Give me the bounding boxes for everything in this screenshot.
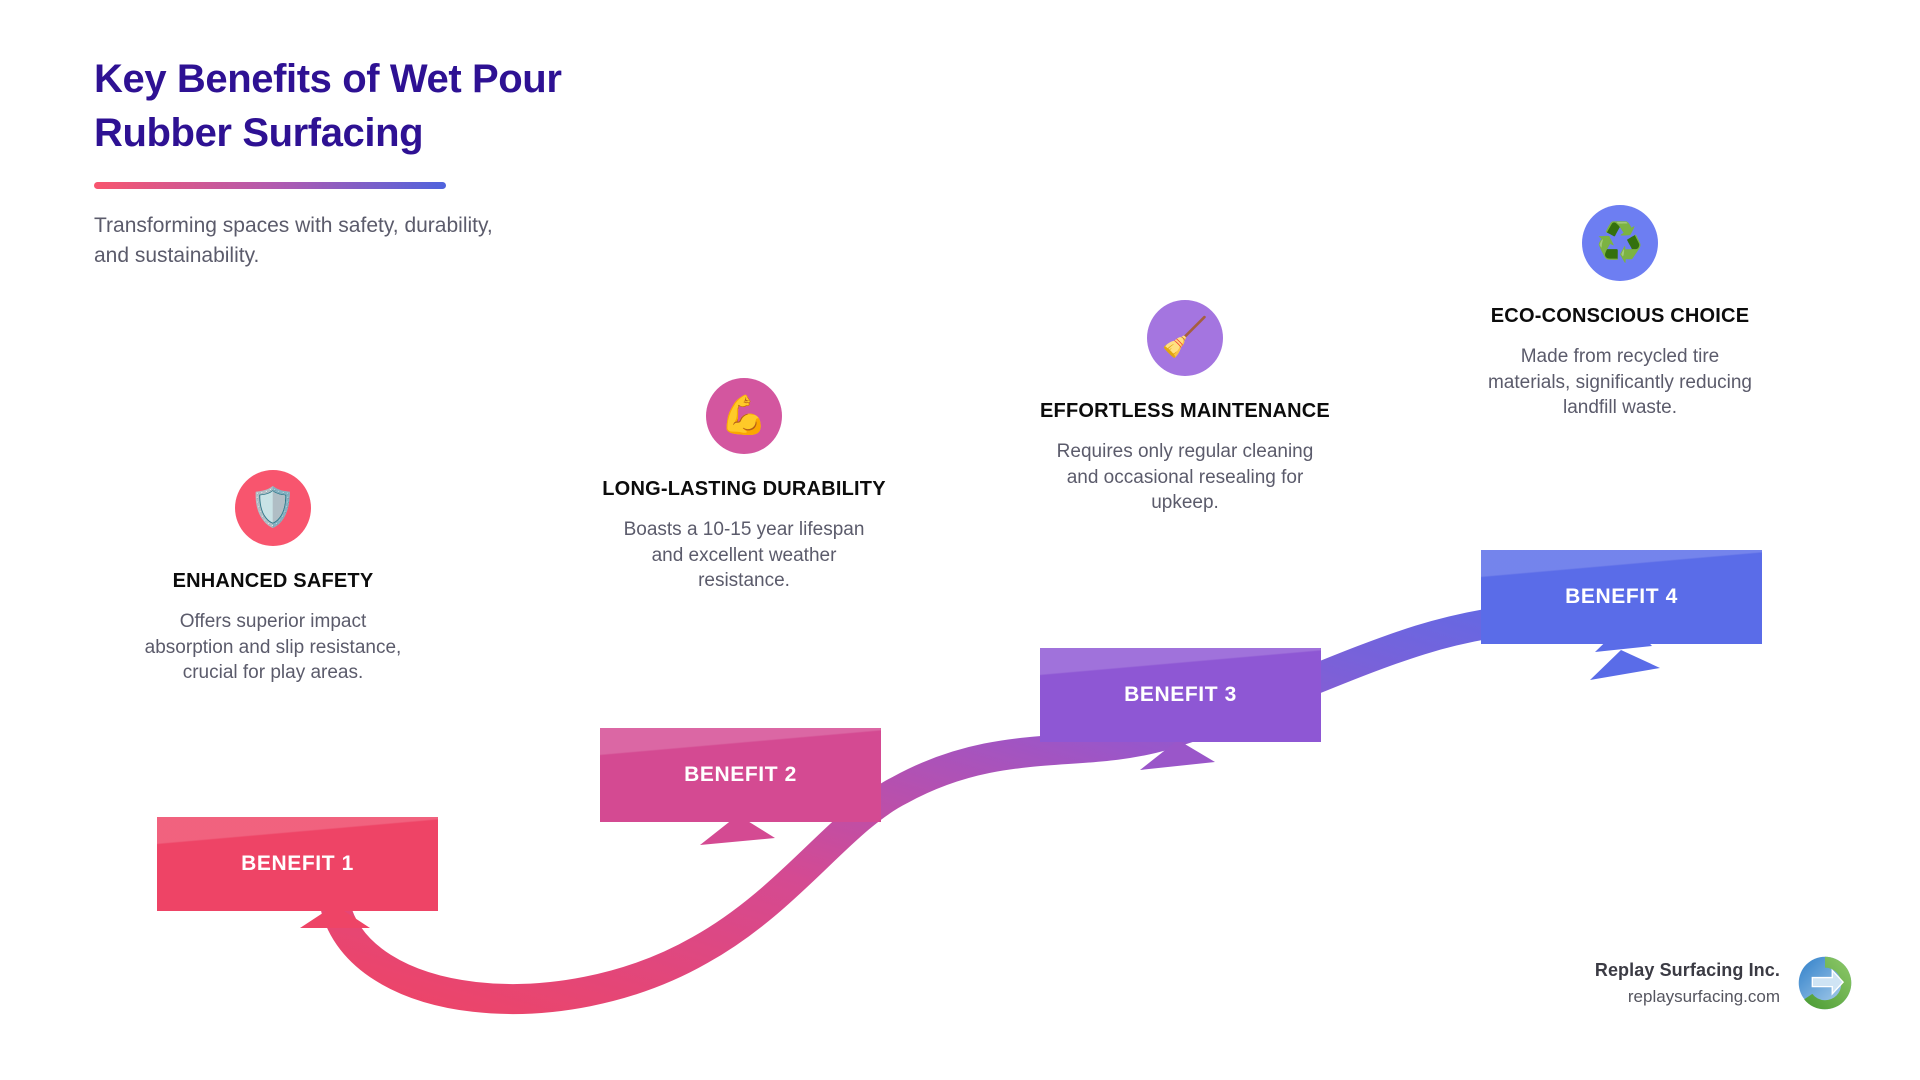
benefit-box-2[interactable]: BENEFIT 2	[600, 728, 881, 822]
benefit-group-2: 💪 LONG-LASTING DURABILITY Boasts a 10-15…	[594, 378, 894, 594]
benefit-heading-3: EFFORTLESS MAINTENANCE	[1035, 398, 1335, 425]
benefit-description-1: Offers superior impact absorption and sl…	[123, 609, 423, 686]
benefit-box-label-1: BENEFIT 1	[241, 852, 354, 876]
footer-company-name: Replay Surfacing Inc.	[1595, 960, 1780, 981]
benefit-description-3: Requires only regular cleaning and occas…	[1035, 439, 1335, 516]
footer-text: Replay Surfacing Inc. replaysurfacing.co…	[1595, 960, 1780, 1007]
benefit-group-3: 🧹 EFFORTLESS MAINTENANCE Requires only r…	[1035, 300, 1335, 516]
shield-icon-glyph: 🛡️	[249, 489, 296, 527]
benefit-box-3[interactable]: BENEFIT 3	[1040, 648, 1321, 742]
benefit-box-label-2: BENEFIT 2	[684, 763, 797, 787]
benefit-box-label-3: BENEFIT 3	[1124, 683, 1237, 707]
recycle-icon-glyph: ♻️	[1596, 224, 1643, 262]
benefit-box-4[interactable]: BENEFIT 4	[1481, 550, 1762, 644]
benefit-group-4: ♻️ ECO-CONSCIOUS CHOICE Made from recycl…	[1470, 205, 1770, 421]
broom-icon: 🧹	[1147, 300, 1223, 376]
benefit-heading-1: ENHANCED SAFETY	[123, 568, 423, 595]
page-subtitle: Transforming spaces with safety, durabil…	[94, 211, 494, 272]
benefit-group-1: 🛡️ ENHANCED SAFETY Offers superior impac…	[123, 470, 423, 686]
flexed-biceps-icon-glyph: 💪	[720, 397, 767, 435]
benefit-box-label-4: BENEFIT 4	[1565, 585, 1678, 609]
page-title-line-2: Rubber Surfacing	[94, 106, 714, 160]
recycling-logo-icon	[1796, 954, 1854, 1012]
page-title: Key Benefits of Wet Pour Rubber Surfacin…	[94, 52, 714, 160]
page-title-line-1: Key Benefits of Wet Pour	[94, 52, 714, 106]
header: Key Benefits of Wet Pour Rubber Surfacin…	[94, 52, 714, 272]
flexed-biceps-icon: 💪	[706, 378, 782, 454]
footer: Replay Surfacing Inc. replaysurfacing.co…	[1595, 954, 1854, 1012]
benefit-heading-2: LONG-LASTING DURABILITY	[594, 476, 894, 503]
broom-icon-glyph: 🧹	[1161, 319, 1208, 357]
footer-website[interactable]: replaysurfacing.com	[1595, 987, 1780, 1007]
shield-icon: 🛡️	[235, 470, 311, 546]
benefit-heading-4: ECO-CONSCIOUS CHOICE	[1470, 303, 1770, 330]
benefit-description-4: Made from recycled tire materials, signi…	[1470, 344, 1770, 421]
title-divider	[94, 182, 446, 189]
benefit-description-2: Boasts a 10-15 year lifespan and excelle…	[594, 517, 894, 594]
benefit-box-1[interactable]: BENEFIT 1	[157, 817, 438, 911]
recycle-icon: ♻️	[1582, 205, 1658, 281]
